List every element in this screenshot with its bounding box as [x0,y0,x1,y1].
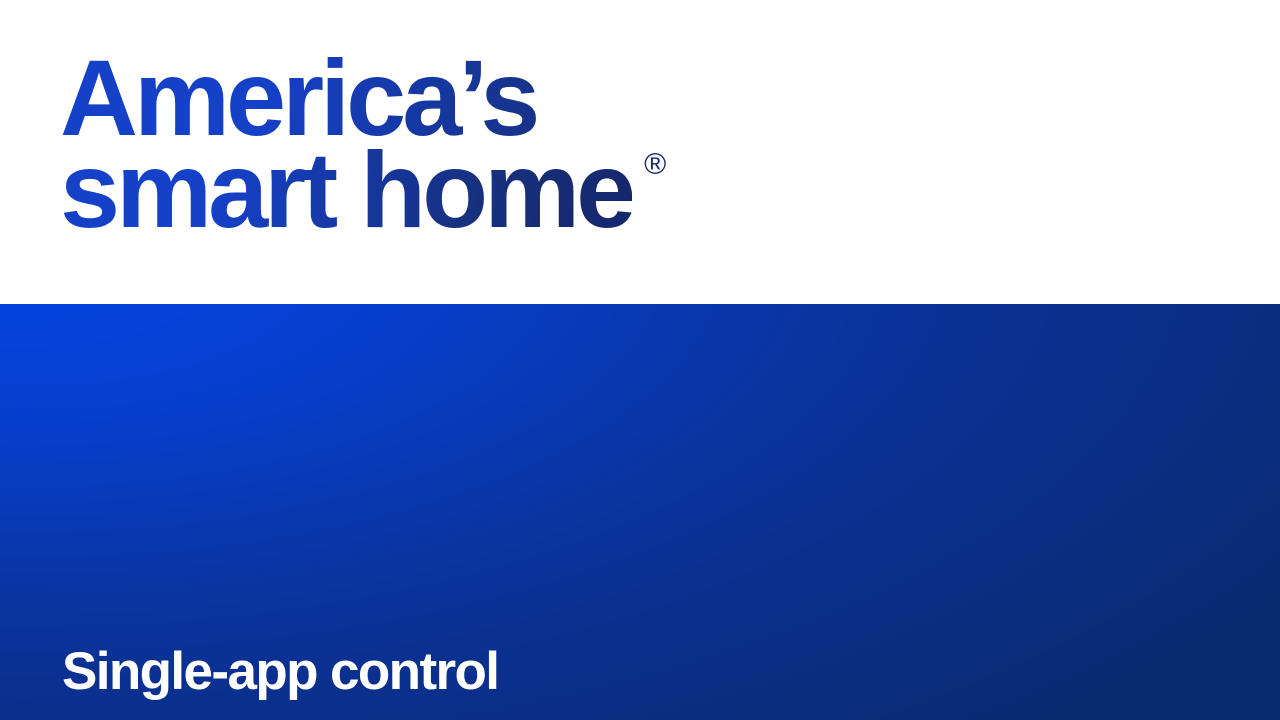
brand-lockup: America’s smart home ® [60,52,780,236]
brand-line-2: smart home [60,129,632,250]
registered-trademark-icon: ® [644,150,666,180]
panel-heading: Single-app control [62,641,498,703]
slide-canvas: America’s smart home ® Single-app contro… [0,0,1280,720]
brand-line-2-wrapper: smart home ® [60,144,632,236]
brand-band: America’s smart home ® [0,0,1280,304]
feature-panel: Single-app control It’s included. Contro… [0,304,1280,720]
